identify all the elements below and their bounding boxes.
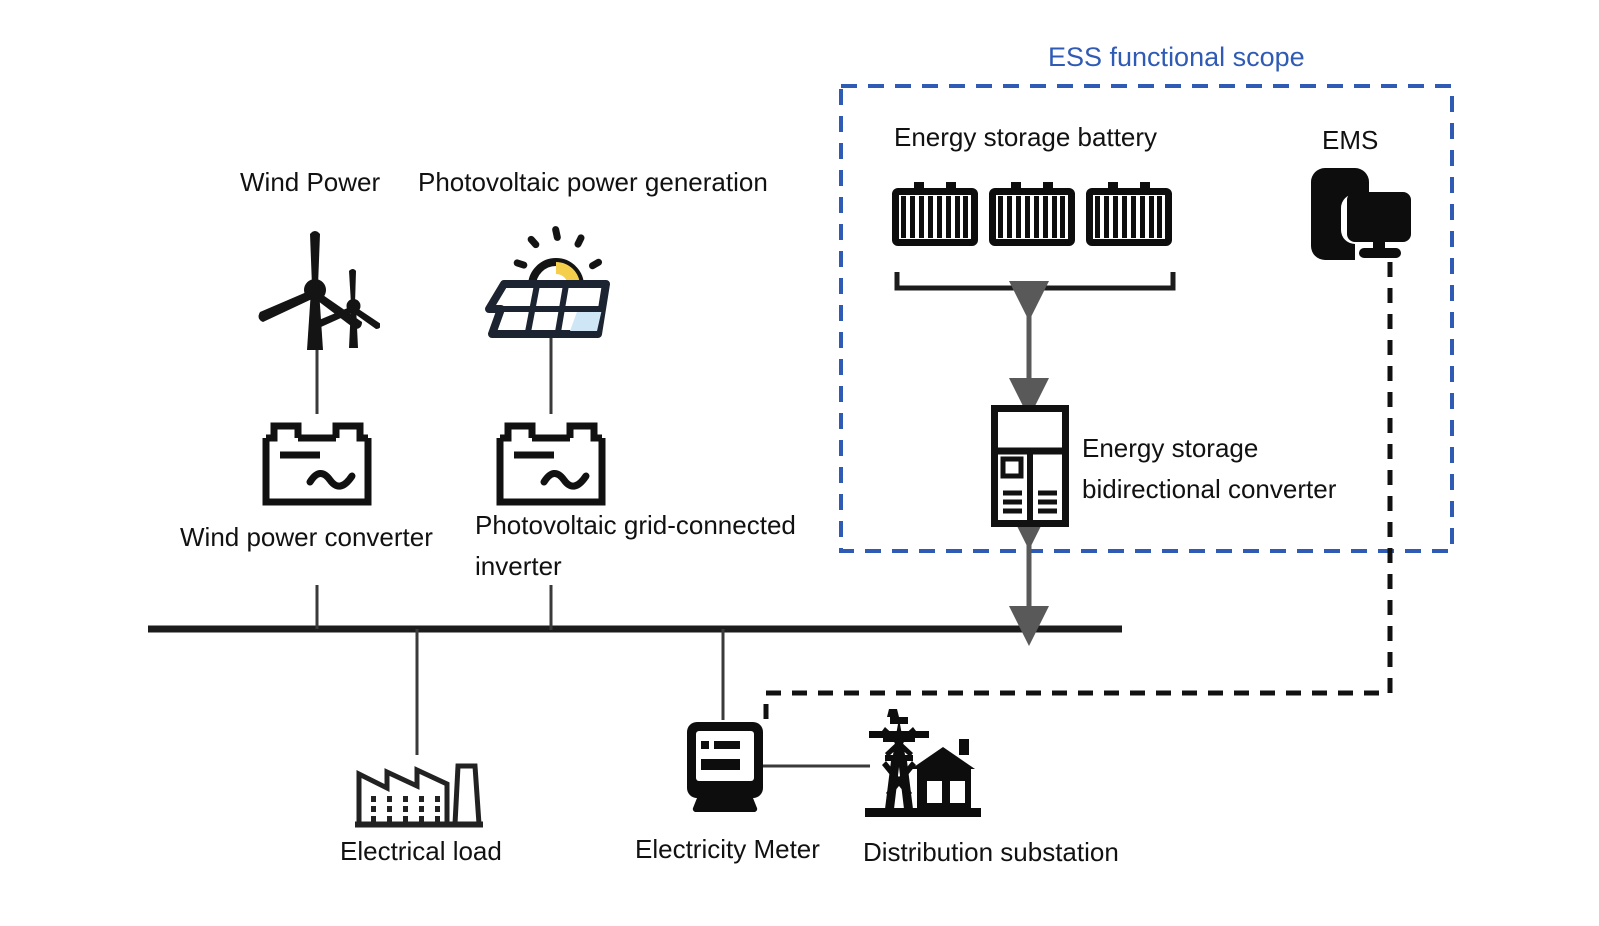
- label-electricity-meter: Electricity Meter: [635, 833, 820, 866]
- battery-ac-inverter-icon: [496, 420, 606, 506]
- label-bidirectional-converter-line2: bidirectional converter: [1082, 473, 1336, 506]
- label-distribution-substation: Distribution substation: [863, 836, 1119, 869]
- storage-battery-icon: [1086, 182, 1172, 246]
- label-wind-power-converter: Wind power converter: [180, 521, 433, 554]
- factory-icon: [355, 760, 483, 828]
- wind-turbine-icon: [250, 228, 380, 352]
- label-wind-power: Wind Power: [240, 166, 380, 199]
- label-pv-inverter-line1: Photovoltaic grid-connected: [475, 509, 796, 542]
- diagram-canvas: ESS functional scope Wind Power Photovol…: [0, 0, 1599, 926]
- solar-panel-icon: [482, 224, 617, 340]
- battery-ac-converter-icon: [262, 420, 372, 506]
- label-bidirectional-converter-line1: Energy storage: [1082, 432, 1258, 465]
- label-electrical-load: Electrical load: [340, 835, 502, 868]
- label-photovoltaic-power-generation: Photovoltaic power generation: [418, 166, 768, 199]
- electric-meter-icon: [687, 722, 763, 812]
- pylon-house-icon: [855, 705, 981, 817]
- battery-bracket: [897, 272, 1173, 288]
- ess-scope-title: ESS functional scope: [1048, 40, 1305, 75]
- label-ems: EMS: [1322, 124, 1378, 157]
- computer-monitor-icon: [1311, 168, 1411, 260]
- storage-battery-icon: [989, 182, 1075, 246]
- label-pv-inverter-line2: inverter: [475, 550, 562, 583]
- storage-battery-icon: [892, 182, 978, 246]
- cabinet-converter-icon: [991, 405, 1069, 527]
- label-energy-storage-battery: Energy storage battery: [894, 121, 1157, 154]
